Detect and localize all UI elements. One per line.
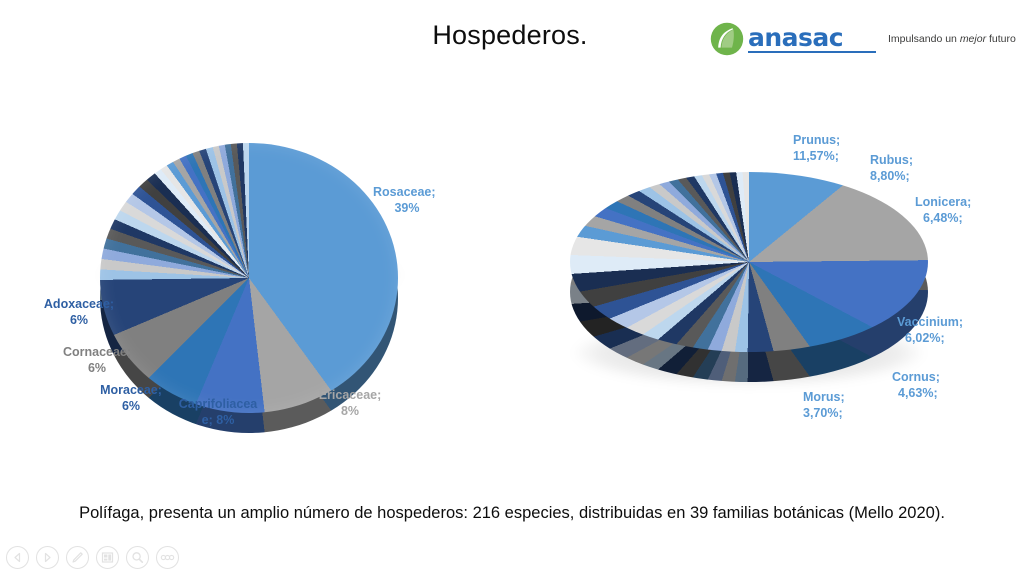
pie-label-vaccinium-line2: 6,02%; (897, 331, 963, 347)
leaf-logo-icon (710, 22, 744, 56)
pie-label-rubus: Rubus; 8,80%; (870, 153, 913, 184)
pie-label-cornaceae: Cornaceae; 6% (52, 345, 142, 376)
triangle-left-icon (12, 552, 23, 563)
pie-top-face (100, 143, 398, 413)
pie-label-adoxaceae-line1: Adoxaceae; (32, 297, 126, 313)
pie-label-vaccinium: Vaccinium; 6,02%; (897, 315, 963, 346)
pie-label-rosaceae-line2: 39% (373, 201, 441, 217)
next-slide-button[interactable] (36, 546, 59, 569)
pie-label-ericaceae-line2: 8% (310, 404, 390, 420)
logo-underline (748, 51, 876, 53)
pie-label-cornus-line2: 4,63%; (892, 386, 940, 402)
pie-label-rubus-line1: Rubus; (870, 153, 913, 169)
pie-label-adoxaceae-line2: 6% (32, 313, 126, 329)
pie-label-prunus: Prunus; 11,57%; (793, 133, 840, 164)
pie-label-moraceae-line2: 6% (86, 399, 176, 415)
tagline-prefix: Impulsando un (888, 33, 960, 45)
slide-caption: Polífaga, presenta un amplio número de h… (40, 500, 984, 526)
pie-label-ericaceae: Ericaceae; 8% (310, 388, 390, 419)
page-title: Hospederos. (300, 20, 720, 51)
chart-families-pie[interactable]: Rosaceae; 39% Ericaceae; 8% Caprifoliace… (60, 125, 460, 415)
pie-label-rosaceae-line1: Rosaceae; (373, 185, 441, 201)
pie-label-moraceae-line1: Moraceae; (86, 383, 176, 399)
pie-label-cornaceae-line1: Cornaceae; (52, 345, 142, 361)
tagline-suffix: futuro (986, 33, 1016, 45)
pen-tool-button[interactable] (66, 546, 89, 569)
presenter-toolbar[interactable] (6, 546, 179, 569)
pie-label-morus: Morus; 3,70%; (803, 390, 845, 421)
chart-genera-pie[interactable]: Prunus; 11,57%; Rubus; 8,80%; Lonicera; … (540, 125, 1010, 425)
pie-label-caprifoliaceae-line2: e; 8% (170, 413, 266, 429)
pie-label-rubus-line2: 8,80%; (870, 169, 913, 185)
logo-tagline: Impulsando un mejor futuro (888, 33, 1016, 45)
presentation-slide: Hospederos. anasac Impulsando un mejor f… (0, 0, 1024, 576)
pie-label-lonicera-line2: 6,48%; (915, 211, 971, 227)
ellipsis-icon (160, 554, 175, 561)
pie-label-ericaceae-line1: Ericaceae; (310, 388, 390, 404)
more-options-button[interactable] (156, 546, 179, 569)
magnifier-icon (131, 551, 144, 564)
pie-label-caprifoliaceae: Caprifoliacea e; 8% (170, 397, 266, 428)
triangle-right-icon (42, 552, 53, 563)
pen-icon (71, 551, 84, 564)
pie-label-vaccinium-line1: Vaccinium; (897, 315, 963, 331)
zoom-tool-button[interactable] (126, 546, 149, 569)
tagline-emphasis: mejor (960, 33, 986, 45)
pie-label-cornaceae-line2: 6% (52, 361, 142, 377)
pie-label-cornus-line1: Cornus; (892, 370, 940, 386)
pie-label-cornus: Cornus; 4,63%; (892, 370, 940, 401)
pie-label-morus-line1: Morus; (803, 390, 845, 406)
pie-label-prunus-line2: 11,57%; (793, 149, 840, 165)
pie-label-adoxaceae: Adoxaceae; 6% (32, 297, 126, 328)
anasac-logo: anasac Impulsando un mejor futuro (710, 20, 995, 58)
previous-slide-button[interactable] (6, 546, 29, 569)
grid-icon (101, 551, 114, 564)
pie-label-lonicera-line1: Lonicera; (915, 195, 971, 211)
pie-top-face (570, 172, 928, 352)
pie-label-caprifoliaceae-line1: Caprifoliacea (170, 397, 266, 413)
pie-label-prunus-line1: Prunus; (793, 133, 840, 149)
pie-label-morus-line2: 3,70%; (803, 406, 845, 422)
pie-label-moraceae: Moraceae; 6% (86, 383, 176, 414)
pie-label-rosaceae: Rosaceae; 39% (373, 185, 441, 216)
logo-wordmark: anasac (748, 26, 843, 50)
slide-grid-button[interactable] (96, 546, 119, 569)
pie-label-lonicera: Lonicera; 6,48%; (915, 195, 971, 226)
